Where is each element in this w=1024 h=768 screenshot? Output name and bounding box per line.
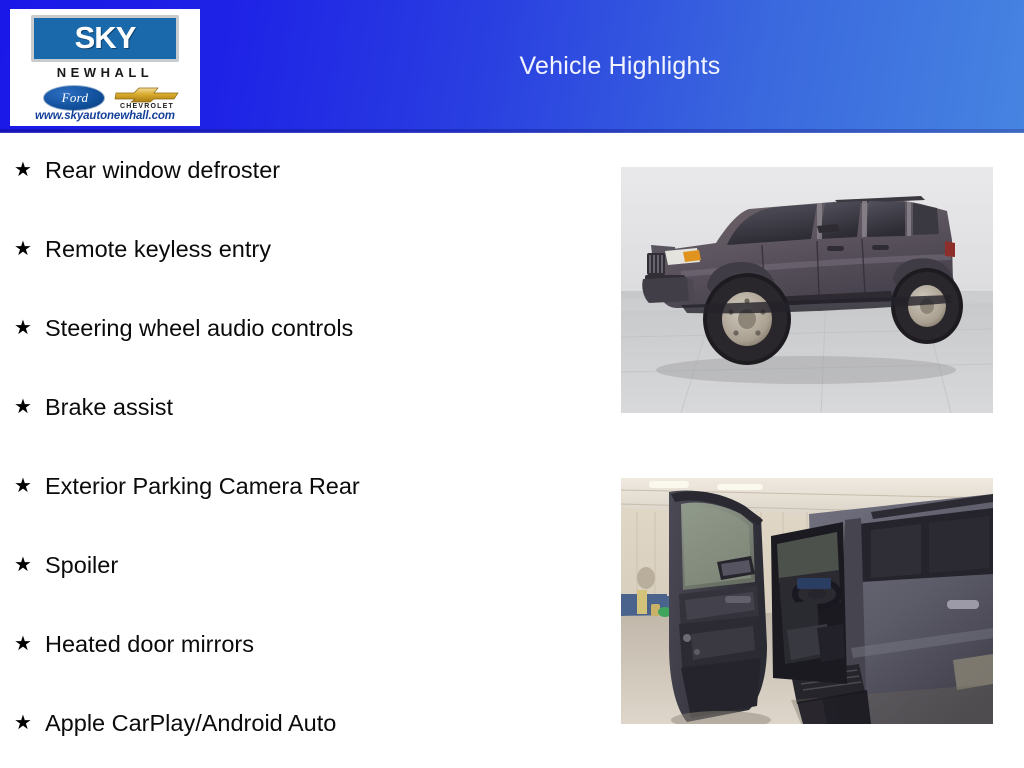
list-item-label: Remote keyless entry [45,234,600,264]
vehicle-features-list: ★ Rear window defroster ★ Remote keyless… [0,155,600,768]
list-item-label: Exterior Parking Camera Rear [45,471,600,501]
list-item: ★ Heated door mirrors [0,629,600,708]
ford-label: Ford [44,90,106,106]
sky-logo-plate: SKY [31,15,179,62]
chevrolet-bowtie-icon [114,86,180,103]
page-title: Vehicle Highlights [220,52,1020,81]
star-icon: ★ [14,708,45,738]
interior-door-open-illustration [621,478,993,724]
list-item-label: Spoiler [45,550,600,580]
header-divider [0,129,1024,133]
list-item: ★ Rear window defroster [0,155,600,234]
star-icon: ★ [14,471,45,501]
list-item: ★ Exterior Parking Camera Rear [0,471,600,550]
list-item-label: Brake assist [45,392,600,422]
star-icon: ★ [14,392,45,422]
list-item-label: Rear window defroster [45,155,600,185]
vehicle-photo-interior[interactable] [621,478,993,724]
exterior-suv-illustration [621,167,993,413]
list-item: ★ Brake assist [0,392,600,471]
list-item: ★ Apple CarPlay/Android Auto [0,708,600,768]
slide-vehicle-highlights: Vehicle Highlights SKY NEWHALL Ford [0,0,1024,768]
list-item-label: Steering wheel audio controls [45,313,600,343]
dealer-website-label: www.skyautonewhall.com [10,110,200,122]
star-icon: ★ [14,550,45,580]
ford-logo-icon: Ford [43,85,105,111]
star-icon: ★ [14,629,45,659]
list-item-label: Heated door mirrors [45,629,600,659]
vehicle-photo-exterior[interactable] [621,167,993,413]
star-icon: ★ [14,313,45,343]
list-item: ★ Steering wheel audio controls [0,313,600,392]
dealer-location-label: NEWHALL [10,65,200,80]
star-icon: ★ [14,155,45,185]
list-item-label: Apple CarPlay/Android Auto [45,708,600,738]
chevrolet-label: CHEVROLET [114,103,180,110]
list-item: ★ Spoiler [0,550,600,629]
star-icon: ★ [14,234,45,264]
sky-brand-label: SKY [34,17,176,58]
dealer-logo[interactable]: SKY NEWHALL Ford CHEVROLET [10,9,200,126]
chevrolet-logo-icon: CHEVROLET [114,85,180,113]
list-item: ★ Remote keyless entry [0,234,600,313]
